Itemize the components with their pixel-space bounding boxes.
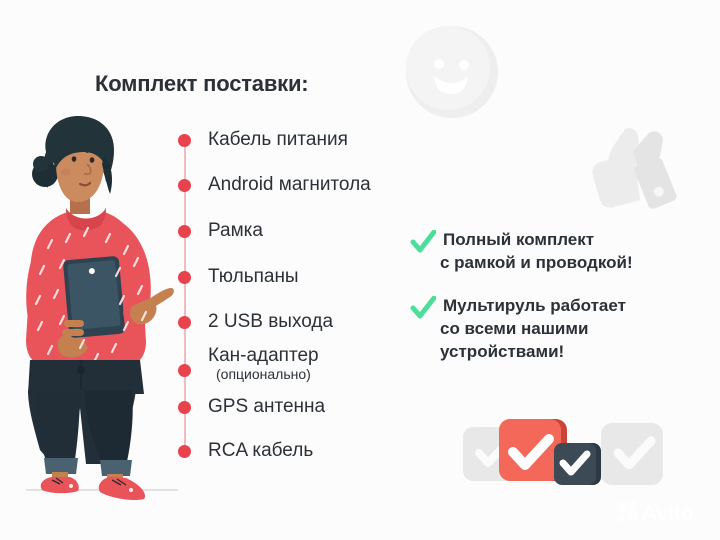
list-item-label: Кабель питания xyxy=(208,128,348,152)
list-item-label: RCA кабель xyxy=(208,439,313,463)
thumbs-up-icon xyxy=(578,116,688,224)
check-mark-icon xyxy=(410,230,436,254)
smiley-face-icon xyxy=(404,24,500,120)
list-item-label: GPS антенна xyxy=(208,395,325,419)
list-item-label: Рамка xyxy=(208,219,263,243)
bullet-dot-icon xyxy=(178,271,191,284)
bullet-dot-icon xyxy=(178,225,191,238)
list-item-sublabel: (опционально) xyxy=(216,365,311,383)
list-item-label: Android магнитола xyxy=(208,173,371,197)
bullet-dot-icon xyxy=(178,134,191,147)
check-cards-group xyxy=(455,405,670,505)
bullet-dot-icon xyxy=(178,316,191,329)
benefit-line: с рамкой и проводкой! xyxy=(440,251,633,274)
avito-watermark: Avito xyxy=(614,498,710,526)
page-title: Комплект поставки: xyxy=(95,71,308,97)
benefit-line: Мультируль работает xyxy=(443,294,626,317)
list-item-label: 2 USB выхода xyxy=(208,310,333,334)
benefit-line: со всеми нашими xyxy=(440,317,588,340)
check-card-gray-right xyxy=(601,423,663,485)
list-item-label: Тюльпаны xyxy=(208,265,299,289)
bullet-dot-icon xyxy=(178,179,191,192)
check-card-navy xyxy=(554,443,601,485)
check-mark-icon xyxy=(410,296,436,320)
woman-with-tablet-pointing-illustration xyxy=(8,108,178,508)
bullet-dot-icon xyxy=(178,445,191,458)
promo-canvas: Avito xyxy=(0,0,720,540)
bullet-dot-icon xyxy=(178,364,191,377)
svg-text:Avito: Avito xyxy=(642,502,694,525)
benefit-line: Полный комплект xyxy=(443,228,594,251)
benefit-line: устройствами! xyxy=(440,340,564,363)
bullet-dot-icon xyxy=(178,401,191,414)
